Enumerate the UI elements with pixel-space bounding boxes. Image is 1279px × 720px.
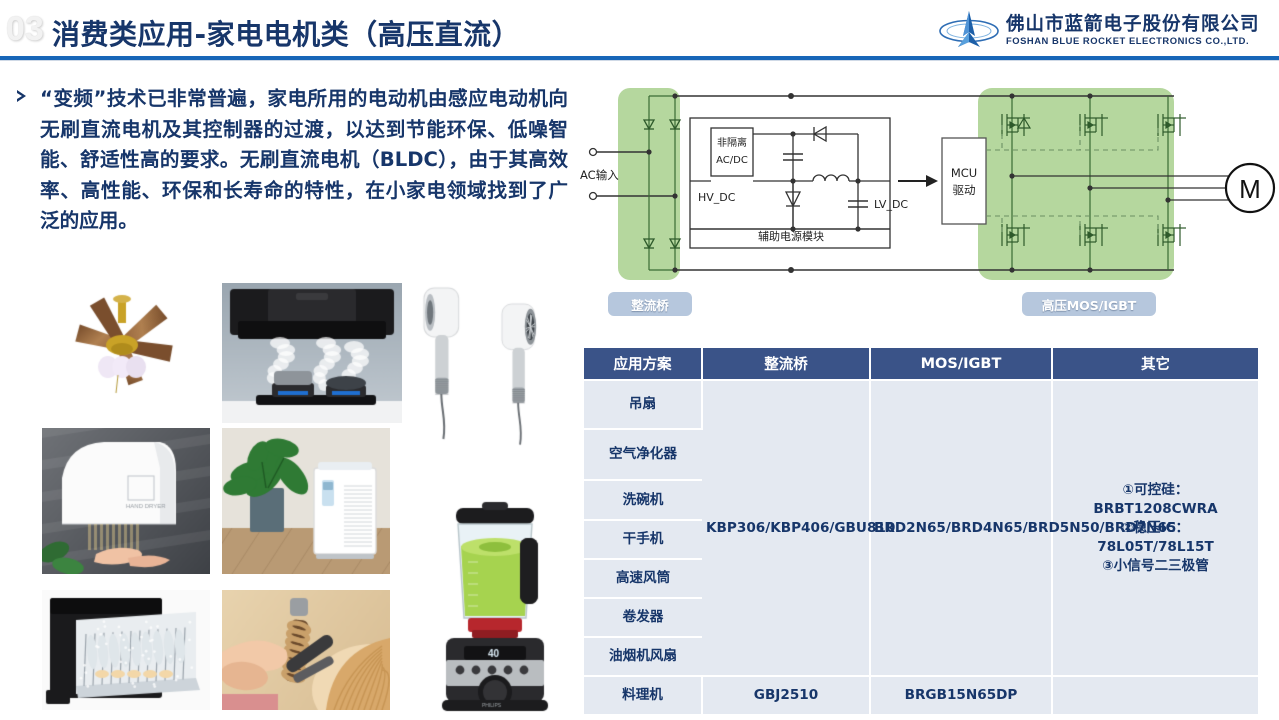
cell-mos: BRGB15N65DP [870,676,1052,714]
aux-module-label: 辅助电源模块 [758,229,824,243]
cell-rectifier-group: KBP306/KBP406/GBU810 [702,380,870,676]
photo-ceiling-fan [32,283,212,423]
ac-input-label: AC输入 [580,168,619,182]
company-name-en: FOSHAN BLUE ROCKET ELECTRONICS CO.,LTD. [1006,35,1249,46]
cell-other [1052,676,1258,714]
company-name-cn: 佛山市蓝箭电子股份有限公司 [1006,10,1260,36]
photo-blender [420,500,570,715]
photo-dishwasher [42,590,210,710]
col-header-rectifier: 整流桥 [702,348,870,380]
section-number: 03 [6,10,44,49]
cell-application: 吊扇 [584,380,702,429]
table-row: 料理机 GBJ2510 BRGB15N65DP [584,676,1258,714]
header-divider-light [0,60,1279,61]
svg-text:MCU: MCU [951,166,977,180]
motor-label: M [1239,174,1261,204]
hv-dc-label: HV_DC [698,191,736,204]
lv-dc-label: LV_DC [874,198,908,211]
col-header-other: 其它 [1052,348,1258,380]
rectifier-bridge-tag: 整流桥 [608,292,692,316]
cell-rectifier: GBJ2510 [702,676,870,714]
cell-application: 高速风筒 [584,559,702,598]
cell-mos-group: BRD2N65/BRD4N65/BRD5N50/BRD7N65 [870,380,1052,676]
mos-igbt-tag: 高压MOS/IGBT [1022,292,1156,316]
photo-air-purifier [222,428,390,574]
circuit-diagram: AC输入 辅助电源模块 非隔离 AC/DC HV_ [578,84,1278,324]
circuit-svg: AC输入 辅助电源模块 非隔离 AC/DC HV_ [578,84,1278,324]
intro-paragraph: “变频”技术已非常普遍，家电所用的电动机由感应电动机向无刷直流电机及其控制器的过… [40,84,568,237]
cell-application: 油烟机风扇 [584,637,702,676]
blue-rocket-logo-icon [938,10,1000,50]
photo-hair-dryers [410,278,578,450]
company-logo: 佛山市蓝箭电子股份有限公司 FOSHAN BLUE ROCKET ELECTRO… [938,8,1274,52]
svg-text:驱动: 驱动 [953,183,976,197]
table-header-row: 应用方案 整流桥 MOS/IGBT 其它 [584,348,1258,380]
slide-root: 03 消费类应用-家电电机类（高压直流） 佛山市蓝箭电子股份有限公司 FOSHA… [0,0,1279,720]
col-header-mos: MOS/IGBT [870,348,1052,380]
chevron-right-bullet-icon [14,88,32,108]
cell-application: 料理机 [584,676,702,714]
svg-text:非隔离: 非隔离 [717,136,747,149]
svg-text:AC/DC: AC/DC [716,155,748,166]
cell-application: 空气净化器 [584,429,702,480]
col-header-application: 应用方案 [584,348,702,380]
photo-range-hood [222,283,402,423]
photo-hand-dryer [42,428,210,574]
page-title: 消费类应用-家电电机类（高压直流） [52,13,520,53]
cell-application: 卷发器 [584,598,702,637]
photo-hair-curler [222,590,390,710]
cell-application: 干手机 [584,520,702,559]
cell-application: 洗碗机 [584,480,702,520]
application-table: 应用方案 整流桥 MOS/IGBT 其它 吊扇 KBP306/KBP406/GB… [584,348,1258,714]
table-row: 吊扇 KBP306/KBP406/GBU810 BRD2N65/BRD4N65/… [584,380,1258,429]
